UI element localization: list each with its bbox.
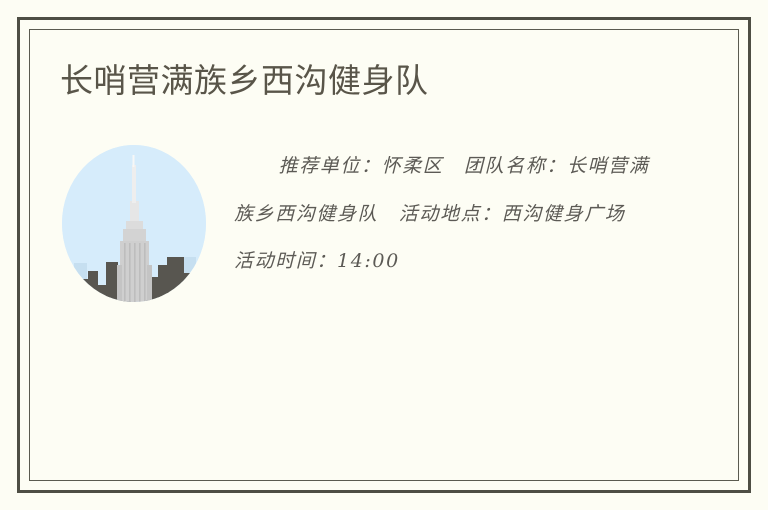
activity-card: 长哨营满族乡西沟健身队 — [0, 0, 768, 510]
page-title: 长哨营满族乡西沟健身队 — [60, 59, 429, 103]
detail-text-block: 推荐单位：怀柔区 团队名称：长哨营满族乡西沟健身队 活动地点：西沟健身广场 活动… — [234, 143, 654, 286]
city-skyline-icon — [62, 145, 206, 302]
